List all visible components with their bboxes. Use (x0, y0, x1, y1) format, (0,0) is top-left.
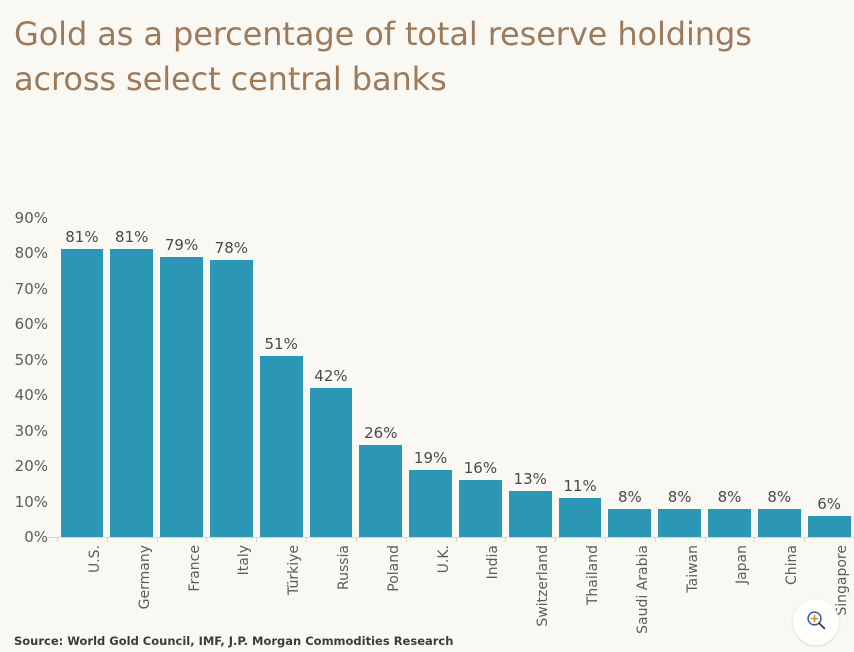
x-axis-category-label: U.S. (87, 545, 103, 573)
bar-group[interactable]: 78%Italy (210, 0, 253, 652)
x-axis-category-label: Poland (386, 545, 402, 592)
bar-value-label: 51% (264, 335, 297, 353)
magnifier-plus-icon (804, 608, 828, 637)
bar-group[interactable]: 51%Türkiye (260, 0, 303, 652)
x-axis-tick (206, 537, 207, 542)
x-axis-tick (555, 537, 556, 542)
bar[interactable] (409, 470, 452, 537)
bar-value-label: 79% (165, 236, 198, 254)
x-axis-tick (306, 537, 307, 542)
bar-group[interactable]: 81%Germany (110, 0, 153, 652)
x-axis-category-label: Germany (137, 545, 153, 609)
x-axis-tick (605, 537, 606, 542)
x-axis-category-label: Russia (336, 545, 352, 590)
source-note: Source: World Gold Council, IMF, J.P. Mo… (14, 634, 453, 648)
bar-group[interactable]: 26%Poland (359, 0, 402, 652)
bar-value-label: 81% (65, 228, 98, 246)
bar[interactable] (260, 356, 303, 537)
bar-group[interactable]: 81%U.S. (61, 0, 104, 652)
x-axis-tick (754, 537, 755, 542)
bar[interactable] (658, 509, 701, 537)
x-axis-category-label: Switzerland (535, 545, 551, 627)
bar[interactable] (509, 491, 552, 537)
chart-plot-area: 0%10%20%30%40%50%60%70%80%90% 81%U.S.81%… (0, 0, 854, 652)
x-axis-category-label: India (485, 545, 501, 579)
bar-group[interactable]: 79%France (160, 0, 203, 652)
bar-group[interactable]: 8%Saudi Arabia (608, 0, 651, 652)
x-axis-tick (804, 537, 805, 542)
x-axis-tick (705, 537, 706, 542)
x-axis-category-label: Japan (734, 545, 750, 584)
bar-group[interactable]: 8%China (758, 0, 801, 652)
bar-value-label: 81% (115, 228, 148, 246)
bar[interactable] (459, 480, 502, 537)
x-axis-tick (655, 537, 656, 542)
x-axis-category-label: Taiwan (685, 545, 701, 593)
x-axis-tick (456, 537, 457, 542)
bar-value-label: 8% (668, 488, 692, 506)
x-axis-tick (406, 537, 407, 542)
bar[interactable] (608, 509, 651, 537)
y-axis-tick-label: 60% (0, 315, 48, 333)
bar-value-label: 19% (414, 449, 447, 467)
y-axis-tick-label: 40% (0, 386, 48, 404)
bar-value-label: 13% (514, 470, 547, 488)
x-axis-tick (505, 537, 506, 542)
y-axis-tick-label: 10% (0, 493, 48, 511)
x-axis-tick (356, 537, 357, 542)
bar-value-label: 42% (314, 367, 347, 385)
bar-value-label: 11% (563, 477, 596, 495)
bar[interactable] (110, 249, 153, 537)
bar-value-label: 16% (464, 459, 497, 477)
x-axis-category-label: Thailand (585, 545, 601, 605)
x-axis-category-label: France (187, 545, 203, 592)
bar-value-label: 26% (364, 424, 397, 442)
x-axis-tick (57, 537, 58, 542)
bar-value-label: 8% (767, 488, 791, 506)
x-axis-category-label: Türkiye (286, 545, 302, 595)
bar-group[interactable]: 16%India (459, 0, 502, 652)
y-axis-tick-label: 90% (0, 209, 48, 227)
y-axis-tick-label: 20% (0, 457, 48, 475)
bar[interactable] (310, 388, 353, 537)
x-axis-tick (256, 537, 257, 542)
bar-group[interactable]: 11%Thailand (559, 0, 602, 652)
bar-value-label: 8% (718, 488, 742, 506)
bar-value-label: 6% (817, 495, 841, 513)
x-axis-tick (157, 537, 158, 542)
bar[interactable] (160, 257, 203, 537)
bar-group[interactable]: 8%Japan (708, 0, 751, 652)
bar[interactable] (359, 445, 402, 537)
y-axis-tick-label: 50% (0, 351, 48, 369)
y-axis-tick-label: 80% (0, 244, 48, 262)
bar-group[interactable]: 19%U.K. (409, 0, 452, 652)
bar-value-label: 78% (215, 239, 248, 257)
zoom-in-button[interactable] (793, 599, 839, 645)
bar[interactable] (61, 249, 104, 537)
bar[interactable] (210, 260, 253, 537)
bar[interactable] (708, 509, 751, 537)
x-axis-category-label: Singapore (834, 545, 850, 616)
x-axis-category-label: U.K. (436, 545, 452, 573)
y-axis-tick-label: 0% (0, 528, 48, 546)
bar-value-label: 8% (618, 488, 642, 506)
x-axis-category-label: Italy (236, 545, 252, 575)
bar[interactable] (758, 509, 801, 537)
y-axis-tick-label: 70% (0, 280, 48, 298)
bar[interactable] (559, 498, 602, 537)
bar[interactable] (808, 516, 851, 537)
bar-group[interactable]: 6%Singapore (808, 0, 851, 652)
bar-group[interactable]: 13%Switzerland (509, 0, 552, 652)
bar-group[interactable]: 8%Taiwan (658, 0, 701, 652)
y-axis-tick-label: 30% (0, 422, 48, 440)
bar-series: 81%U.S.81%Germany79%France78%Italy51%Tür… (57, 0, 854, 652)
bar-group[interactable]: 42%Russia (310, 0, 353, 652)
chart-card: Gold as a percentage of total reserve ho… (0, 0, 854, 652)
x-axis-tick (107, 537, 108, 542)
x-axis-category-label: Saudi Arabia (635, 545, 651, 634)
x-axis-category-label: China (784, 545, 800, 585)
